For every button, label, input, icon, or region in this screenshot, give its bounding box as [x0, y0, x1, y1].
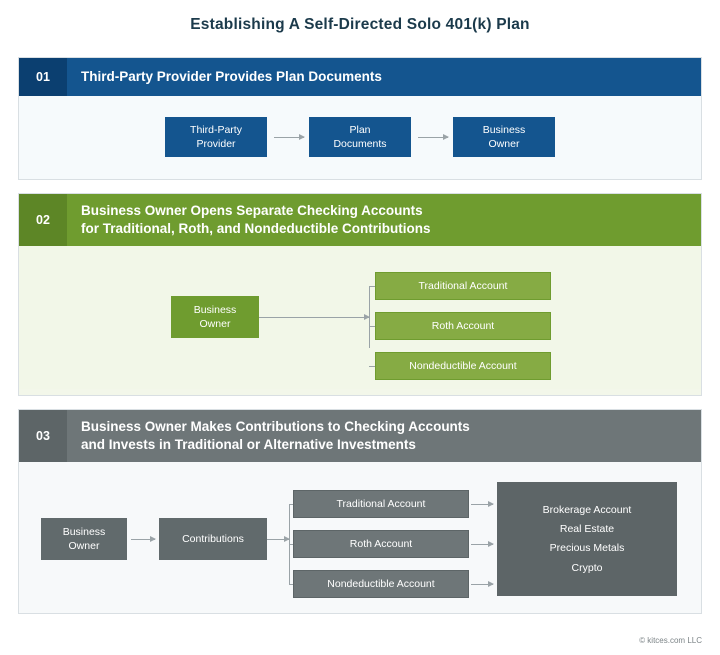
arrow-roth-to-investments	[471, 544, 493, 545]
section-02-body: Business Owner Traditional Account Roth …	[19, 246, 701, 389]
node-plan-documents-line-1: Plan	[333, 123, 386, 137]
node-third-party-provider: Third-Party Provider	[165, 117, 267, 157]
node-business-owner-line-1: Business	[483, 123, 526, 137]
node-business-owner-step3: Business Owner	[41, 518, 127, 560]
node-third-party-provider-line-1: Third-Party	[190, 123, 242, 137]
node-nondeductible-account-step3: Nondeductible Account	[293, 570, 469, 598]
node-business-owner-step3-line-2: Owner	[63, 539, 106, 553]
section-step-01: 01 Third-Party Provider Provides Plan Do…	[18, 57, 702, 180]
section-02-title-line-1: Business Owner Opens Separate Checking A…	[81, 202, 430, 220]
node-business-owner-step2: Business Owner	[171, 296, 259, 338]
node-contributions: Contributions	[159, 518, 267, 560]
page-title: Establishing A Self-Directed Solo 401(k)…	[0, 16, 720, 34]
section-02-title: Business Owner Opens Separate Checking A…	[67, 194, 701, 246]
investment-item-3: Crypto	[572, 559, 603, 578]
credit-label: © kitces.com LLC	[639, 636, 702, 645]
section-01-body: Third-Party Provider Plan Documents Busi…	[19, 96, 701, 180]
section-01-number: 01	[19, 58, 67, 96]
arrow-documents-to-owner	[418, 137, 448, 138]
arrow-traditional-to-investments	[471, 504, 493, 505]
section-02-number: 02	[19, 194, 67, 246]
node-traditional-account-step2: Traditional Account	[375, 272, 551, 300]
arrow-nondeductible-to-investments	[471, 584, 493, 585]
arrow-provider-to-documents	[274, 137, 304, 138]
investment-item-0: Brokerage Account	[543, 501, 632, 520]
section-03-number: 03	[19, 410, 67, 462]
section-step-02: 02 Business Owner Opens Separate Checkin…	[18, 193, 702, 396]
section-01-header: 01 Third-Party Provider Provides Plan Do…	[19, 58, 701, 96]
investment-item-1: Real Estate	[560, 520, 614, 539]
node-nondeductible-account-step2: Nondeductible Account	[375, 352, 551, 380]
section-02-header: 02 Business Owner Opens Separate Checkin…	[19, 194, 701, 246]
node-roth-account-step2: Roth Account	[375, 312, 551, 340]
connector-vertical-step2	[369, 286, 370, 348]
node-investments: Brokerage Account Real Estate Precious M…	[497, 482, 677, 596]
section-step-03: 03 Business Owner Makes Contributions to…	[18, 409, 702, 614]
arrow-owner-to-contributions	[131, 539, 155, 540]
section-01-title: Third-Party Provider Provides Plan Docum…	[67, 58, 701, 96]
section-02-title-line-2: for Traditional, Roth, and Nondeductible…	[81, 220, 430, 238]
node-business-owner-step3-line-1: Business	[63, 525, 106, 539]
node-plan-documents: Plan Documents	[309, 117, 411, 157]
section-03-title-line-1: Business Owner Makes Contributions to Ch…	[81, 418, 470, 436]
node-business-owner-step2-line-2: Owner	[194, 317, 237, 331]
arrow-owner-trunk-step2	[259, 317, 369, 318]
diagram-canvas: Establishing A Self-Directed Solo 401(k)…	[0, 0, 720, 655]
node-business-owner-step2-line-1: Business	[194, 303, 237, 317]
investment-item-2: Precious Metals	[550, 539, 625, 558]
section-03-title: Business Owner Makes Contributions to Ch…	[67, 410, 701, 462]
section-01-title-line-1: Third-Party Provider Provides Plan Docum…	[81, 68, 382, 86]
node-third-party-provider-line-2: Provider	[190, 137, 242, 151]
node-roth-account-step3: Roth Account	[293, 530, 469, 558]
node-plan-documents-line-2: Documents	[333, 137, 386, 151]
section-03-title-line-2: and Invests in Traditional or Alternativ…	[81, 436, 470, 454]
node-business-owner-line-2: Owner	[483, 137, 526, 151]
section-03-body: Business Owner Contributions Traditional…	[19, 462, 701, 607]
arrow-contributions-trunk	[267, 539, 289, 540]
node-business-owner: Business Owner	[453, 117, 555, 157]
node-traditional-account-step3: Traditional Account	[293, 490, 469, 518]
section-03-header: 03 Business Owner Makes Contributions to…	[19, 410, 701, 462]
